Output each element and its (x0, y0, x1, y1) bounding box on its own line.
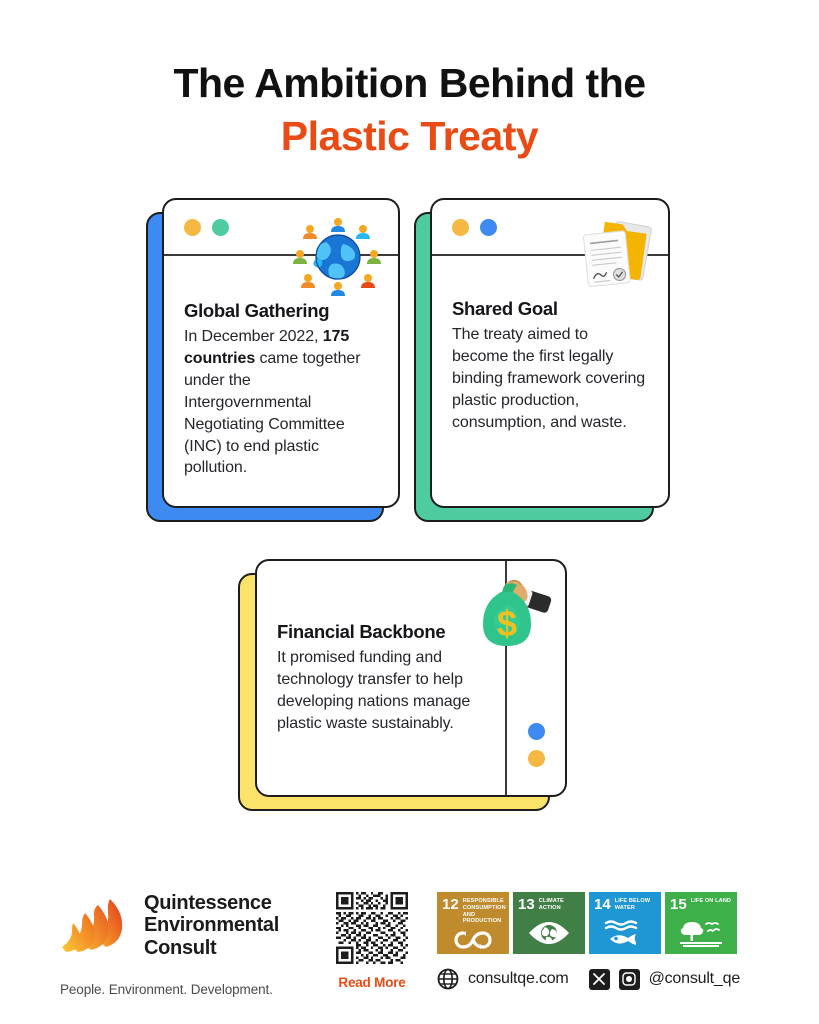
social-handle-text[interactable]: @consult_qe (649, 970, 740, 988)
window-dot-blue (528, 723, 545, 740)
contact-row: consultqe.com @consult_qe (437, 968, 740, 990)
sdg-tile-12: 12 Responsible Consumption and Productio… (437, 892, 509, 954)
card-surface: Global Gathering In December 2022, 175 c… (162, 198, 400, 508)
page-title: The Ambition Behind the Plastic Treaty (0, 60, 819, 160)
sdg-number: 12 (442, 897, 459, 925)
sdg-number: 14 (594, 897, 611, 912)
website-text[interactable]: consultqe.com (468, 970, 569, 988)
brand-name-line-3: Consult (144, 937, 279, 959)
instagram-icon[interactable] (619, 969, 640, 990)
window-dot-yellow (184, 219, 201, 236)
sdg-number: 13 (518, 897, 535, 912)
brand-name-line-2: Environmental (144, 914, 279, 936)
card-surface: Financial Backbone It promised funding a… (255, 559, 567, 797)
feather-leaf-logo-icon (60, 895, 132, 957)
window-dot-yellow (452, 219, 469, 236)
footer: Quintessence Environmental Consult Peopl… (0, 880, 819, 1024)
sdg-name: Life Below Water (615, 897, 657, 912)
sdg-name: Life on Land (691, 897, 731, 912)
brand-name-line-1: Quintessence (144, 892, 279, 914)
read-more-label[interactable]: Read More (331, 975, 413, 990)
card-content: Financial Backbone It promised funding a… (257, 561, 505, 795)
title-line-2: Plastic Treaty (0, 113, 819, 160)
globe-icon (437, 968, 459, 990)
card-content: Global Gathering In December 2022, 175 c… (164, 256, 398, 479)
sdg-name: Responsible Consumption and Production (463, 897, 506, 925)
card-shared-goal: Shared Goal The treaty aimed to become t… (414, 212, 654, 522)
infinity-arrows-icon (437, 925, 509, 954)
window-dot-yellow (528, 750, 545, 767)
x-twitter-icon[interactable] (589, 969, 610, 990)
card-sidebar (505, 561, 565, 795)
card-text-pre: In December 2022, (184, 328, 323, 345)
sdg-tile-14: 14 Life Below Water (589, 892, 661, 954)
card-heading: Global Gathering (184, 300, 378, 322)
card-financial-backbone: Financial Backbone It promised funding a… (238, 573, 550, 811)
brand-name: Quintessence Environmental Consult (144, 892, 279, 959)
card-body-text: It promised funding and technology trans… (277, 647, 489, 735)
infographic-page: The Ambition Behind the Plastic Treaty G… (0, 0, 819, 1024)
brand-logo: Quintessence Environmental Consult (60, 892, 279, 959)
sdg-name: Climate Action (539, 897, 581, 912)
card-titlebar (432, 200, 668, 256)
brand-tagline: People. Environment. Development. (60, 982, 273, 997)
tree-birds-icon (665, 912, 737, 954)
card-global-gathering: Global Gathering In December 2022, 175 c… (146, 212, 384, 522)
eye-earth-icon (513, 912, 585, 954)
sdg-goals-row: 12 Responsible Consumption and Productio… (437, 892, 737, 954)
sdg-tile-15: 15 Life on Land (665, 892, 737, 954)
window-dot-blue (480, 219, 497, 236)
qr-code-icon[interactable] (331, 892, 413, 964)
card-body-text: The treaty aimed to become the first leg… (452, 324, 648, 434)
window-dot-green (212, 219, 229, 236)
card-content: Shared Goal The treaty aimed to become t… (432, 256, 668, 434)
sdg-number: 15 (670, 897, 687, 912)
sdg-tile-13: 13 Climate Action (513, 892, 585, 954)
card-titlebar (164, 200, 398, 256)
card-heading: Financial Backbone (277, 621, 489, 643)
card-surface: Shared Goal The treaty aimed to become t… (430, 198, 670, 508)
card-heading: Shared Goal (452, 298, 648, 320)
qr-block[interactable]: Read More (331, 892, 413, 990)
card-body-text: In December 2022, 175 countries came tog… (184, 326, 378, 479)
waves-fish-icon (589, 912, 661, 954)
title-line-1: The Ambition Behind the (0, 60, 819, 107)
card-text-post: came together under the Intergovernmenta… (184, 350, 360, 477)
